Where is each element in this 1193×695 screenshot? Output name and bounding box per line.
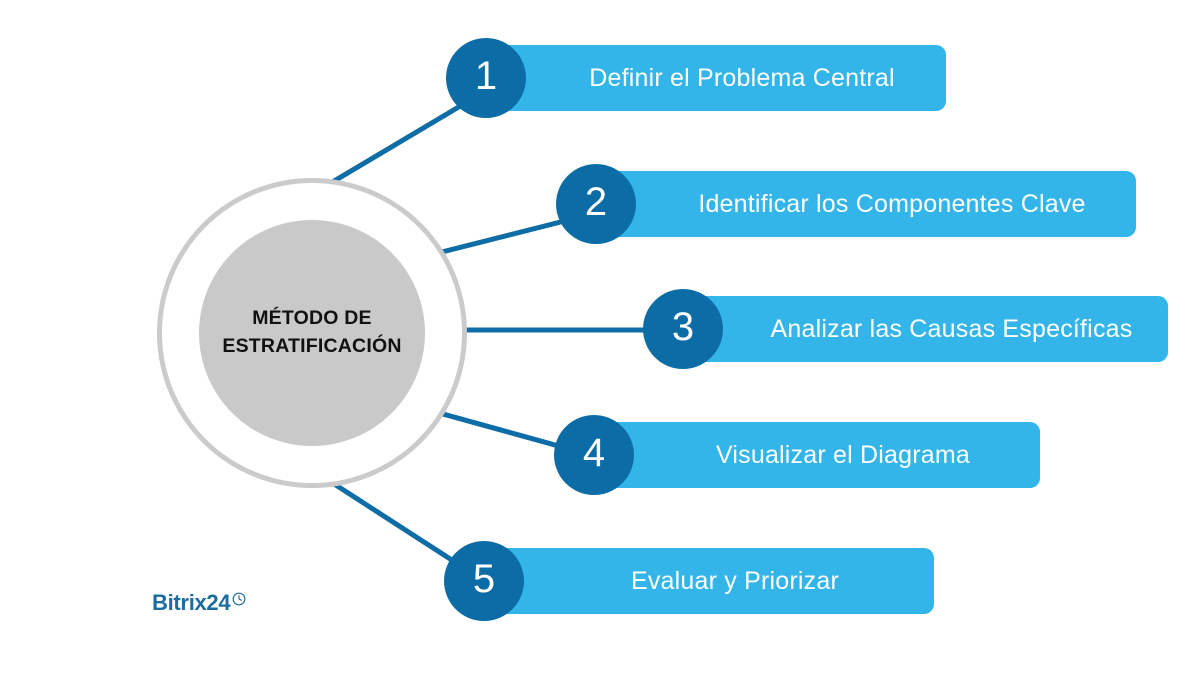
clock-icon — [232, 592, 246, 606]
hub-title: MÉTODO DE ESTRATIFICACIÓN — [216, 305, 407, 360]
hub-inner-disc: MÉTODO DE ESTRATIFICACIÓN — [199, 220, 425, 446]
step-number-2: 2 — [585, 182, 607, 222]
step-badge-2[interactable]: 2 — [556, 164, 636, 244]
step-label-1: Definir el Problema Central — [589, 66, 895, 91]
step-label-5: Evaluar y Priorizar — [631, 569, 839, 594]
bitrix24-logo[interactable]: Bitrix24 — [152, 592, 246, 614]
step-bar-4[interactable]: Visualizar el Diagrama — [578, 422, 1040, 488]
step-bar-5[interactable]: Evaluar y Priorizar — [468, 548, 934, 614]
step-badge-5[interactable]: 5 — [444, 541, 524, 621]
step-badge-3[interactable]: 3 — [643, 289, 723, 369]
step-bar-3[interactable]: Analizar las Causas Específicas — [667, 296, 1168, 362]
step-number-5: 5 — [473, 559, 495, 599]
central-hub: MÉTODO DE ESTRATIFICACIÓN — [157, 178, 467, 488]
step-row-1[interactable]: Definir el Problema Central1 — [470, 45, 946, 111]
step-row-5[interactable]: Evaluar y Priorizar5 — [468, 548, 934, 614]
step-label-4: Visualizar el Diagrama — [716, 443, 970, 468]
step-label-2: Identificar los Componentes Clave — [698, 192, 1085, 217]
step-number-3: 3 — [672, 307, 694, 347]
step-number-4: 4 — [583, 433, 605, 473]
step-row-2[interactable]: Identificar los Componentes Clave2 — [580, 171, 1136, 237]
step-row-4[interactable]: Visualizar el Diagrama4 — [578, 422, 1040, 488]
step-badge-1[interactable]: 1 — [446, 38, 526, 118]
brand-name: Bitrix24 — [152, 592, 230, 614]
step-row-3[interactable]: Analizar las Causas Específicas3 — [667, 296, 1168, 362]
infographic-canvas: MÉTODO DE ESTRATIFICACIÓN Definir el Pro… — [0, 0, 1193, 695]
step-label-3: Analizar las Causas Específicas — [771, 317, 1133, 342]
step-badge-4[interactable]: 4 — [554, 415, 634, 495]
step-bar-1[interactable]: Definir el Problema Central — [470, 45, 946, 111]
step-number-1: 1 — [475, 56, 497, 96]
step-bar-2[interactable]: Identificar los Componentes Clave — [580, 171, 1136, 237]
